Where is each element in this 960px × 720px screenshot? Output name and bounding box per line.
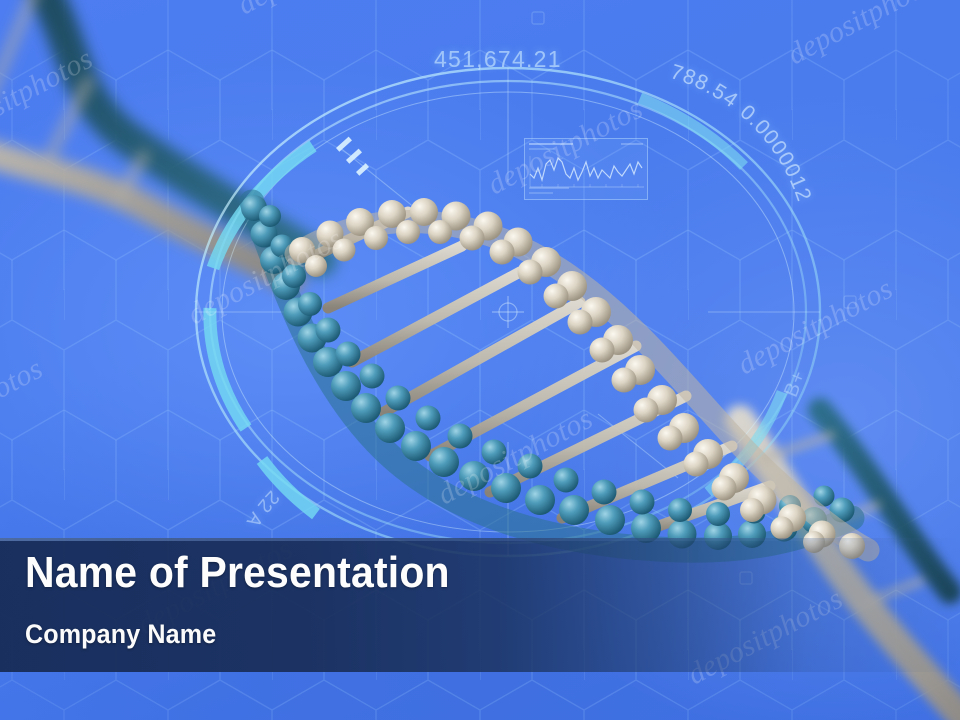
watermark-text: depositphotos (732, 272, 899, 382)
hud-readout-curve-value: 788.54 (668, 60, 743, 113)
watermark-text: depositphotos (0, 352, 49, 462)
hud-panel-footer (529, 187, 643, 196)
presentation-slide: 451,674.21 788.54 0.0000012 22 A B+ depo (0, 0, 960, 720)
hud-panel-header (529, 142, 643, 153)
watermark-text: depositphotos (432, 402, 599, 512)
hud-targeting-circle (188, 62, 828, 562)
dna-double-helix (232, 150, 872, 580)
presentation-title[interactable]: Name of Presentation (25, 551, 450, 595)
watermark-text: depositphotos (232, 0, 399, 22)
company-name[interactable]: Company Name (25, 621, 216, 648)
hud-readout-curved-values: 788.54 0.0000012 (656, 70, 856, 290)
watermark-text: depositphotos (782, 0, 949, 72)
hud-data-panel (524, 138, 648, 200)
hud-panel-line-chart (528, 154, 646, 190)
background-dna-strand-upper-left (0, 0, 370, 260)
curve-decimal-text: 0.0000012 (736, 101, 816, 205)
watermark-text: depositphotos (0, 42, 99, 152)
hud-readout-top-value: 451,674.21 (434, 46, 562, 73)
curve-value-text: 788.54 (668, 60, 743, 113)
hud-readout-bottom-text: 22 A (242, 486, 284, 531)
banner-top-sheen (0, 538, 960, 541)
watermark-text: depositphotos (482, 92, 649, 202)
watermark-text: depositphotos (182, 222, 349, 332)
bottom-value-text: 22 A (242, 486, 284, 531)
dna-backbone-bone (289, 198, 868, 559)
hud-readout-blood-type: B+ (780, 367, 812, 401)
hud-readout-curve-decimal: 0.0000012 (736, 101, 816, 205)
watermark-text: depositphotos (382, 712, 549, 720)
dna-backbone-teal (241, 195, 855, 550)
